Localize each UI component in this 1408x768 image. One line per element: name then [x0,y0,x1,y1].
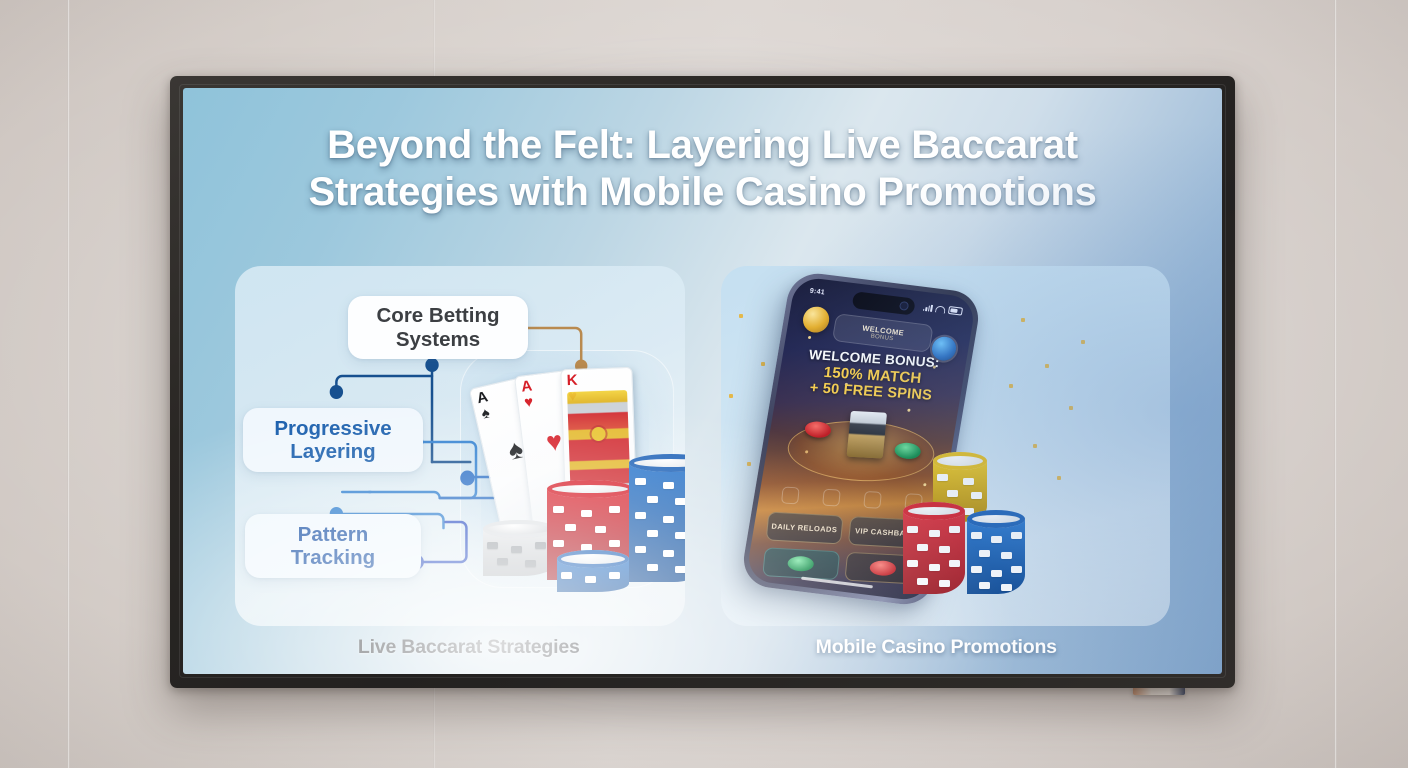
scene-room: Beyond the Felt: Layering Live Baccarat … [0,0,1408,768]
chip-stack-blue [629,454,685,582]
caption-live-baccarat-strategies: Live Baccarat Strategies [235,636,703,674]
spade-icon: ♠ [480,405,491,421]
game-icon-1[interactable] [781,487,800,505]
green-chip-icon [787,556,814,572]
node-core-betting-systems[interactable]: Core Betting Systems [348,296,528,359]
cellular-signal-icon [922,303,932,311]
node-progressive-layering-label: Progressive Layering [274,417,391,464]
node-progressive-layering[interactable]: Progressive Layering [243,408,423,472]
heart-icon-large: ♥ [544,426,564,459]
daily-reloads-button[interactable]: DAILY RELOADS [765,512,842,545]
chip-stack-red-right [903,502,965,594]
card-rank-k-hearts: K [566,373,577,388]
wifi-icon [935,305,946,313]
slide-title-line-1: Beyond the Felt: Layering Live Baccarat [273,122,1132,169]
panel-captions: Live Baccarat Strategies Mobile Casino P… [235,636,1170,674]
chip-stack-blue-front [557,550,629,592]
panel-row: Core Betting Systems Progressive Layerin… [235,266,1170,626]
chip-stack-white [483,520,555,576]
promo-button-row-2 [762,547,921,584]
slide-title: Beyond the Felt: Layering Live Baccarat … [183,122,1222,216]
wall-seam-left [67,0,70,768]
node-pattern-tracking-label: Pattern Tracking [291,523,375,570]
green-chip-tile[interactable] [762,547,839,580]
game-icon-3[interactable] [863,491,882,509]
panel-live-baccarat-strategies: Core Betting Systems Progressive Layerin… [235,266,685,626]
node-pattern-tracking[interactable]: Pattern Tracking [245,514,421,578]
heart-icon: ♥ [523,394,534,410]
game-icon-2[interactable] [822,489,841,507]
card-rank-a-hearts: A [520,378,533,394]
panel-mobile-casino-promotions: 9:41 [721,266,1171,626]
wall-seam-right [1334,0,1337,768]
battery-icon [947,306,962,316]
node-core-betting-systems-label: Core Betting Systems [377,304,500,351]
promo-headline: WELCOME BONUS: 150% MATCH + 50 FREE SPIN… [789,347,954,405]
television-frame: Beyond the Felt: Layering Live Baccarat … [170,76,1235,688]
promo-button-grid: DAILY RELOADS VIP CASHBACK [761,512,924,592]
chip-stack-blue-right [967,510,1025,594]
caption-mobile-casino-promotions: Mobile Casino Promotions [703,636,1171,674]
red-chip-icon [868,560,895,576]
television-screen: Beyond the Felt: Layering Live Baccarat … [183,88,1222,674]
promo-card-stack [846,411,886,459]
slide-title-line-2: Strategies with Mobile Casino Promotions [273,169,1132,216]
